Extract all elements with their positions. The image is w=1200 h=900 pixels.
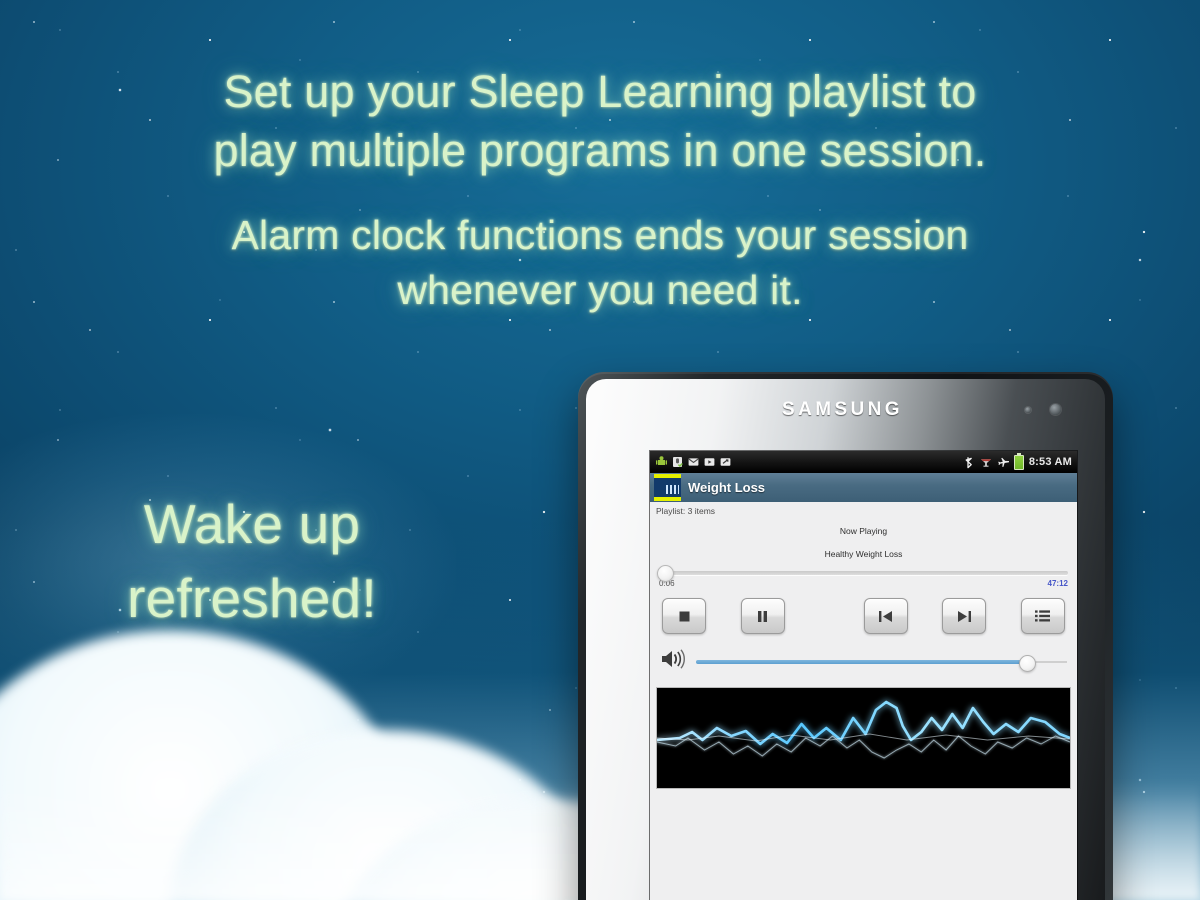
playlist-count-label: Playlist: 3 items xyxy=(650,502,1077,516)
app-title: Weight Loss xyxy=(688,480,765,495)
sync-icon xyxy=(719,456,732,469)
progress-thumb[interactable] xyxy=(657,565,674,582)
battery-icon xyxy=(1014,455,1024,470)
usb-debug-icon xyxy=(671,456,684,469)
speaker-volume-icon xyxy=(660,648,688,675)
promo-headline: Set up your Sleep Learning playlist to p… xyxy=(130,62,1070,181)
progress-track[interactable] xyxy=(659,571,1068,575)
tablet-bezel: SAMSUNG xyxy=(586,379,1105,900)
volume-fill xyxy=(696,660,1026,664)
mail-icon xyxy=(687,456,700,469)
sleep-moon-icon xyxy=(654,474,681,501)
transport-controls xyxy=(650,588,1077,634)
progress-slider[interactable] xyxy=(650,559,1077,575)
wifi-icon xyxy=(980,456,993,469)
promo-wake-up-text: Wake up refreshed! xyxy=(52,487,452,636)
samsung-logo: SAMSUNG xyxy=(782,399,903,421)
proximity-sensor-icon xyxy=(1025,407,1031,413)
screenshot-icon xyxy=(703,456,716,469)
time-row: 0:06 47:12 xyxy=(650,575,1077,588)
soundwave-bars xyxy=(666,485,679,494)
app-title-bar: Weight Loss xyxy=(650,473,1077,503)
status-bar-notifications xyxy=(655,456,732,469)
volume-thumb[interactable] xyxy=(1019,655,1036,672)
front-camera-icon xyxy=(1050,404,1061,415)
android-status-bar: 8:53 AM xyxy=(650,451,1077,473)
total-time: 47:12 xyxy=(1048,579,1068,588)
pause-button[interactable] xyxy=(741,598,785,634)
audio-waveform-visualizer xyxy=(656,687,1071,789)
promo-subline: Alarm clock functions ends your session … xyxy=(130,208,1070,319)
player-screen: Playlist: 3 items Now Playing Healthy We… xyxy=(650,502,1077,900)
now-playing-label: Now Playing xyxy=(650,526,1077,536)
stop-button[interactable] xyxy=(662,598,706,634)
volume-row xyxy=(650,634,1077,675)
track-title: Healthy Weight Loss xyxy=(650,549,1077,559)
status-bar-system-icons: 8:53 AM xyxy=(963,455,1072,470)
status-bar-clock: 8:53 AM xyxy=(1028,456,1072,468)
airplane-mode-icon xyxy=(997,456,1010,469)
bluetooth-icon xyxy=(963,456,976,469)
android-notification-icon xyxy=(655,456,668,469)
playlist-button[interactable] xyxy=(1021,598,1065,634)
next-button[interactable] xyxy=(942,598,986,634)
previous-button[interactable] xyxy=(864,598,908,634)
volume-slider[interactable] xyxy=(696,653,1067,671)
promo-screenshot: Set up your Sleep Learning playlist to p… xyxy=(0,0,1200,900)
tablet-screen: 8:53 AM Weight Loss Playlist: 3 items No… xyxy=(650,451,1077,900)
player-empty-area xyxy=(650,789,1077,900)
samsung-tablet: SAMSUNG xyxy=(578,372,1113,900)
